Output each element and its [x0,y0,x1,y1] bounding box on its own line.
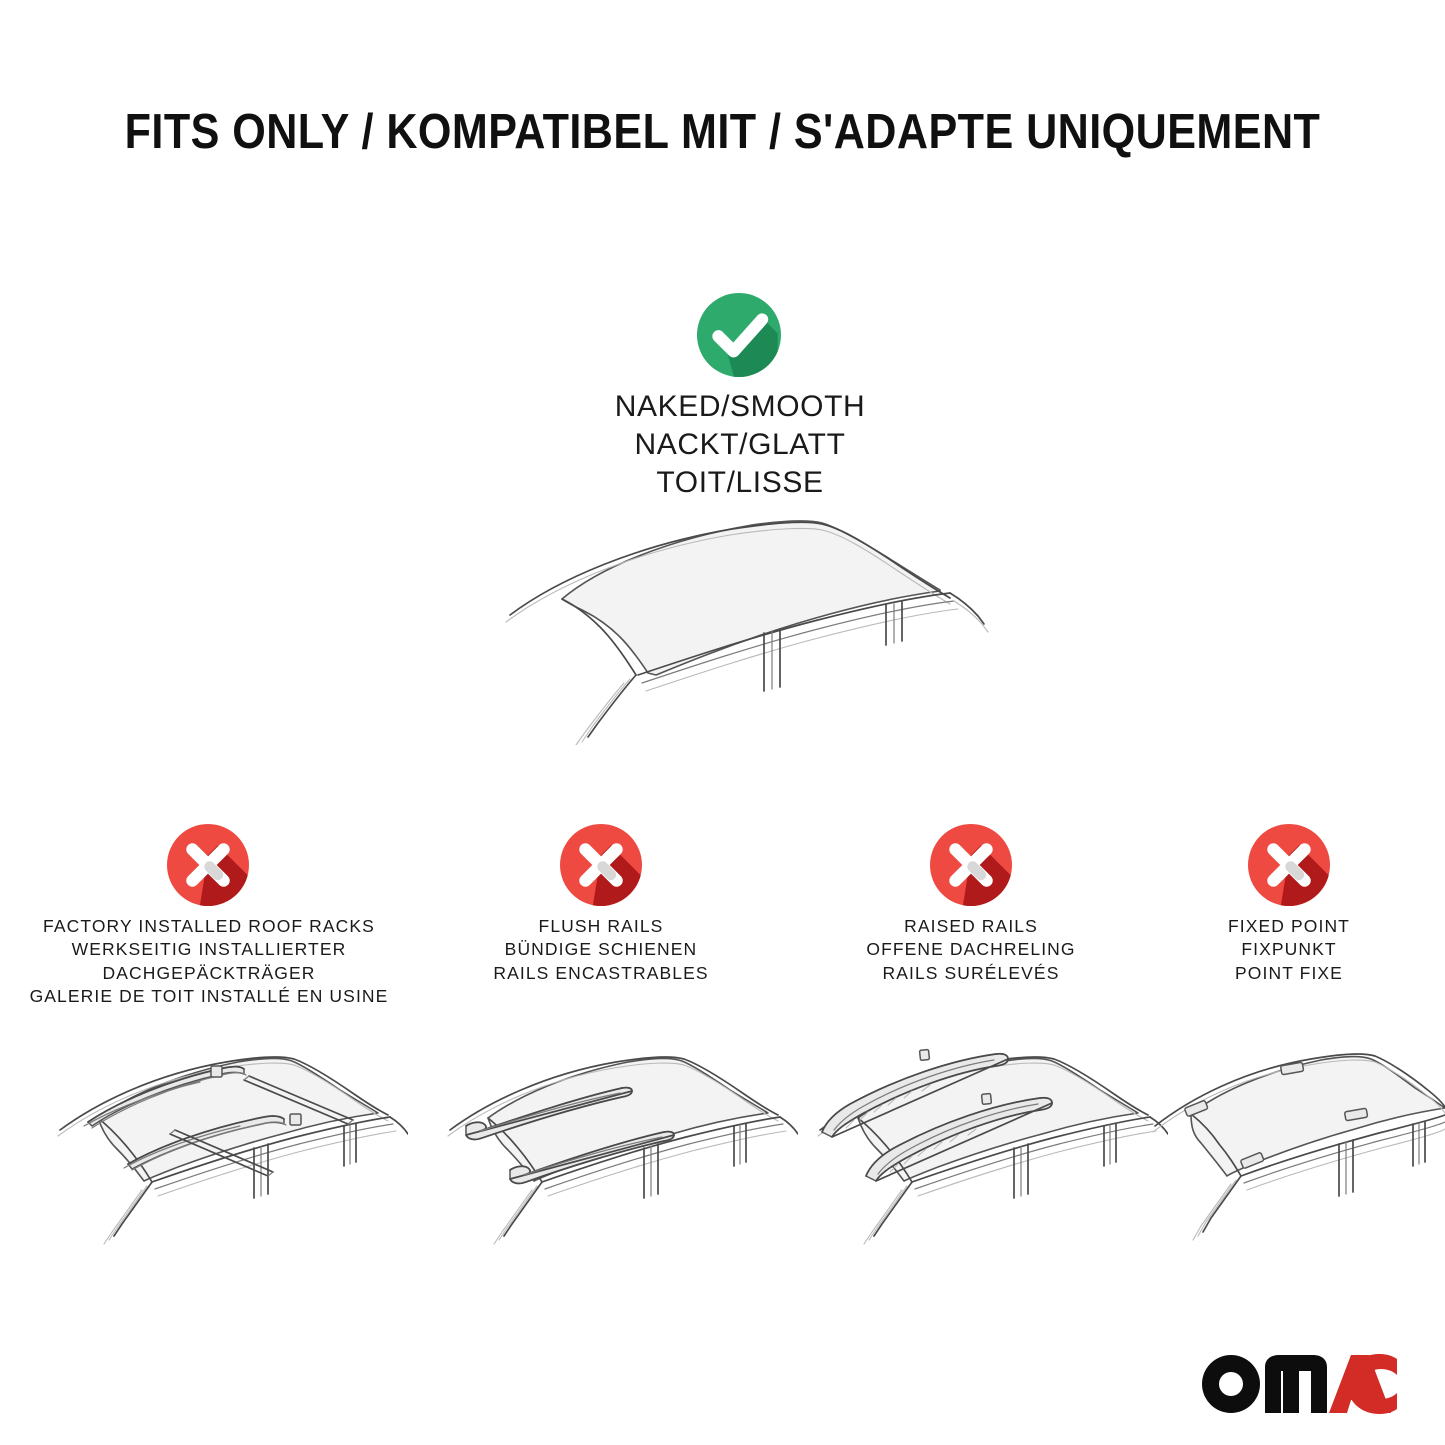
incompatible-label-group-4: FIXED POINT FIXPUNKT POINT FIXE [1118,915,1445,985]
x-circle-icon [560,824,642,906]
label-fr: RAILS SURÉLEVÉS [780,962,1162,985]
label-en: RAISED RAILS [780,915,1162,938]
label-de-2: DACHGEPÄCKTRÄGER [0,962,418,985]
flush-rails-illustration [418,1018,798,1248]
x-circle-icon [930,824,1012,906]
page-title: FITS ONLY / KOMPATIBEL MIT / S'ADAPTE UN… [87,104,1359,160]
compatible-label-de: NACKT/GLATT [450,426,1030,464]
raised-rails-illustration [788,1018,1168,1248]
smooth-roof-illustration [470,495,1010,745]
label-en: FLUSH RAILS [410,915,792,938]
label-de: BÜNDIGE SCHIENEN [410,938,792,961]
x-mark-glyph [930,824,1012,906]
x-mark-glyph [560,824,642,906]
label-fr: POINT FIXE [1118,962,1445,985]
label-en: FIXED POINT [1118,915,1445,938]
fitment-infographic: FITS ONLY / KOMPATIBEL MIT / S'ADAPTE UN… [0,0,1445,1445]
x-mark-glyph [167,824,249,906]
label-de: OFFENE DACHRELING [780,938,1162,961]
omac-logo [1201,1353,1397,1415]
incompatible-label-group-1: FACTORY INSTALLED ROOF RACKS WERKSEITIG … [0,915,418,1008]
x-mark-glyph [1248,824,1330,906]
fixed-point-illustration [1133,1018,1445,1248]
label-de: FIXPUNKT [1118,938,1445,961]
compatible-label-group: NAKED/SMOOTH NACKT/GLATT TOIT/LISSE [450,388,1030,502]
omac-logo-mark [1201,1353,1397,1415]
incompatible-label-group-2: FLUSH RAILS BÜNDIGE SCHIENEN RAILS ENCAS… [410,915,792,985]
check-mark-glyph [697,293,781,377]
incompatible-label-group-3: RAISED RAILS OFFENE DACHRELING RAILS SUR… [780,915,1162,985]
factory-roof-rack-illustration [28,1018,408,1248]
label-fr: RAILS ENCASTRABLES [410,962,792,985]
label-en: FACTORY INSTALLED ROOF RACKS [0,915,418,938]
check-circle-icon [697,293,781,377]
x-circle-icon [1248,824,1330,906]
label-fr: GALERIE DE TOIT INSTALLÉ EN USINE [0,985,418,1008]
x-circle-icon [167,824,249,906]
compatible-label-en: NAKED/SMOOTH [450,388,1030,426]
label-de-1: WERKSEITIG INSTALLIERTER [0,938,418,961]
